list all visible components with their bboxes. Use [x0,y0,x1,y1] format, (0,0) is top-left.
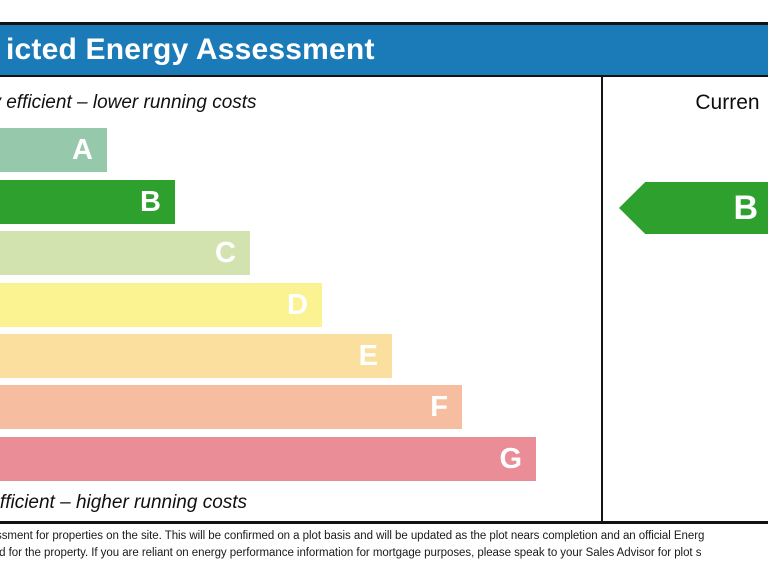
rating-bar-c: C [0,231,250,275]
footer-disclaimer: Energy Assessment for properties on the … [0,524,768,576]
epc-certificate: icted Energy Assessment ergy efficient –… [0,0,768,576]
current-rating-arrow: B [619,182,768,234]
rating-bar-letter-d: D [287,291,322,320]
rating-bars: A B C D E F G [0,128,601,488]
current-rating-column: Curren B [603,75,768,522]
rating-bar-letter-b: B [140,188,175,217]
rating-bar-letter-e: E [359,342,392,371]
page-title: icted Energy Assessment [0,33,375,67]
caption-efficient: ergy efficient – lower running costs [0,92,257,114]
rating-bar-letter-f: F [430,393,462,422]
rating-bar-d: D [0,283,322,327]
rating-bar-letter-a: A [72,136,107,165]
rating-bar-letter-c: C [215,239,250,268]
caption-inefficient: gy efficient – higher running costs [0,492,247,514]
rating-bar-f: F [0,385,462,429]
rating-bar-e: E [0,334,392,378]
rating-bar-a: A [0,128,107,172]
rating-bar-g: G [0,437,536,481]
footer-line-1: Energy Assessment for properties on the … [0,530,704,542]
rating-bar-letter-g: G [499,445,536,474]
title-banner-right-segment [601,22,768,75]
title-banner: icted Energy Assessment [0,22,608,75]
footer-line-2: ated/displayed for the property. If you … [0,547,701,559]
rating-bar-b: B [0,180,175,224]
top-margin [0,0,768,22]
current-column-header: Curren [603,91,768,115]
current-rating-letter: B [733,191,768,225]
